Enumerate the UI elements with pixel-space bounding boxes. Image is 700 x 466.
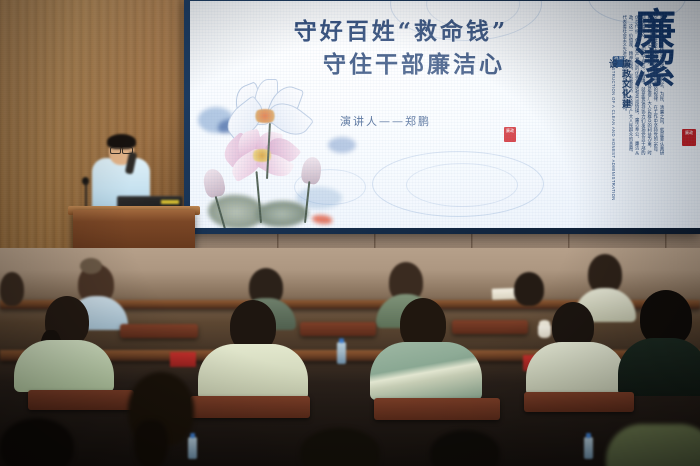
chair-back: [190, 396, 310, 418]
attendee-ponytail: [134, 420, 168, 466]
attendee-hair-bun: [80, 258, 102, 274]
chair-back: [120, 324, 198, 338]
slide-title: 守好百姓“救命钱” 守住干部廉洁心: [236, 15, 566, 82]
lotus-stamen: [252, 109, 278, 123]
attendee-shoulders: [606, 424, 700, 466]
attendee-shoulders: [14, 340, 114, 392]
lotus-bud: [300, 156, 323, 185]
attendee-head: [0, 418, 74, 466]
chair-back: [374, 398, 500, 420]
lotus-illustration: [200, 83, 360, 228]
ink-wash: [328, 137, 356, 153]
chair-back: [524, 392, 634, 412]
attendee-shoulders: [198, 344, 308, 400]
photo-scene: 守好百姓“救命钱” 守住干部廉洁心 演讲人——郑鹏 廉政 廉政文化建设的核心是道…: [0, 0, 700, 466]
lotus-bud: [201, 167, 226, 199]
chair-back: [452, 320, 528, 334]
calligraphy-seal-stamp: 廉政: [682, 129, 696, 146]
chair-back: [28, 390, 134, 410]
calligraphy-block: 廉政文化建设的核心是道德，是务实、为民、清廉之风，就是要认真研究中国特色社会主义…: [558, 7, 694, 177]
calligraphy-subtitle: 廉政文化建设: [606, 59, 632, 117]
presentation-slide: 守好百姓“救命钱” 守住干部廉洁心 演讲人——郑鹏 廉政 廉政文化建设的核心是道…: [190, 1, 700, 228]
lotus-stamen: [250, 149, 274, 162]
slide-seal-stamp: 廉政: [504, 127, 516, 142]
attendee-shoulders: [370, 342, 482, 400]
slide-title-line-2: 守住干部廉洁心: [236, 48, 566, 81]
laptop-sticker: [161, 200, 179, 204]
tea-cup-with-lid: [538, 324, 551, 338]
water-bottle: [337, 342, 346, 364]
water-bottle: [584, 437, 593, 459]
lotus-leaf: [256, 201, 308, 227]
slide-title-line-1: 守好百姓“救命钱”: [294, 18, 508, 45]
red-booklet: [170, 352, 196, 367]
attendee-head: [0, 272, 24, 306]
attendee-shoulders: [618, 338, 700, 396]
water-bottle: [188, 437, 197, 459]
projection-screen-frame: 守好百姓“救命钱” 守住干部廉洁心 演讲人——郑鹏 廉政 廉政文化建设的核心是道…: [184, 0, 700, 234]
attendee-head: [514, 272, 544, 306]
slide-speaker-credit: 演讲人——郑鹏: [340, 113, 580, 129]
attendee-shoulders: [526, 342, 626, 396]
chair-back: [300, 322, 376, 336]
cloud-motif-icon: [406, 163, 518, 207]
